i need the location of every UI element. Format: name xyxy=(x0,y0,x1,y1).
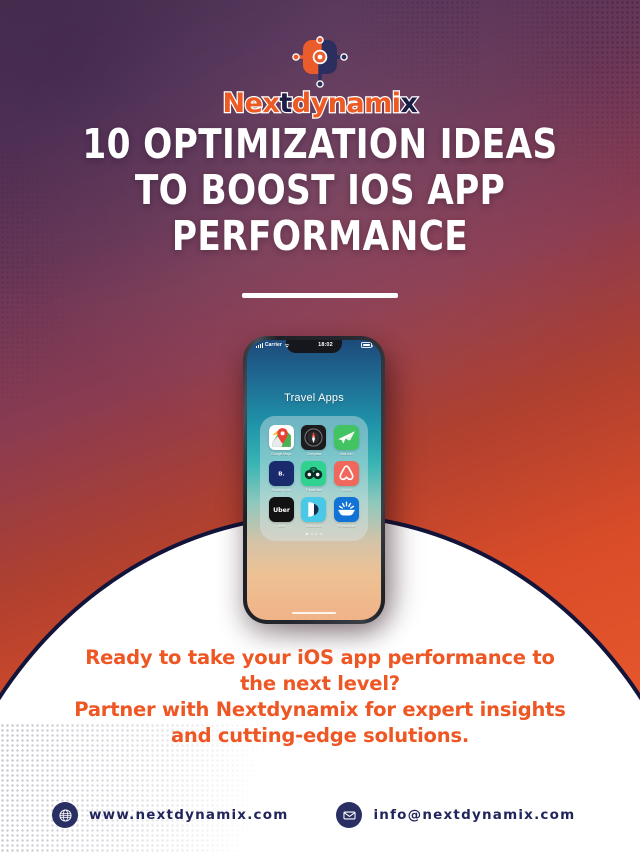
headline-line-1: 10 OPTIMIZATION IDEAS xyxy=(60,122,581,168)
compass-icon xyxy=(301,425,326,450)
brand-logo: Nextdynamix xyxy=(0,34,640,117)
battery-full-icon xyxy=(361,342,372,348)
app-tile-uber[interactable]: Uber Uber xyxy=(268,497,295,528)
cta-line-4: and cutting-edge solutions. xyxy=(52,723,588,749)
app-label: Kiwi.com xyxy=(340,452,354,456)
hotels-icon xyxy=(301,497,326,522)
wifi-icon xyxy=(284,343,290,348)
tripadvisor-icon xyxy=(301,461,326,486)
page-dot xyxy=(315,533,317,535)
carrier-label: Carrier xyxy=(265,342,282,348)
nextdynamix-cross-logo-icon xyxy=(286,34,354,88)
page-dot xyxy=(306,533,308,535)
app-tile-kiwi[interactable]: Kiwi.com xyxy=(333,425,360,456)
app-label: Compass xyxy=(307,452,321,456)
signal-bars-icon xyxy=(256,343,263,348)
svg-text:Uber: Uber xyxy=(273,507,291,514)
home-indicator[interactable] xyxy=(292,612,336,615)
app-tile-compass[interactable]: Compass xyxy=(301,425,328,456)
svg-text:B.: B. xyxy=(278,472,284,478)
headline-line-3: PERFORMANCE xyxy=(60,214,581,260)
footer-website-label: www.nextdynamix.com xyxy=(89,807,288,823)
folder-title: Travel Apps xyxy=(247,392,381,404)
folder-page-dots[interactable] xyxy=(268,533,360,535)
app-label: Hotels.com xyxy=(306,524,323,528)
headline-divider xyxy=(242,293,398,298)
app-label: Google Maps xyxy=(271,452,291,456)
booking-icon: B. xyxy=(269,461,294,486)
phone-screen: Carrier 18:02 Travel Apps xyxy=(247,340,381,620)
wordmark-part-1: Nex xyxy=(223,88,280,119)
phone-clock: 18:02 xyxy=(318,342,333,348)
cta-line-3: Partner with Nextdynamix for expert insi… xyxy=(52,697,588,723)
app-tile-hotels[interactable]: Hotels.com xyxy=(301,497,328,528)
footer-website[interactable]: www.nextdynamix.com xyxy=(52,802,288,828)
cta-line-1: Ready to take your iOS app performance t… xyxy=(52,645,588,671)
poster-canvas: Nextdynamix 10 OPTIMIZATION IDEAS TO BOO… xyxy=(0,0,640,853)
app-tile-google-maps[interactable]: Google Maps xyxy=(268,425,295,456)
app-tile-tripadvisor[interactable]: Tripadvisor xyxy=(301,461,328,492)
globe-icon xyxy=(52,802,78,828)
cta-line-2: the next level? xyxy=(52,671,588,697)
skyscanner-icon xyxy=(334,497,359,522)
app-grid: Google Maps Compass xyxy=(268,425,360,528)
footer-email[interactable]: info@nextdynamix.com xyxy=(336,802,575,828)
google-maps-icon xyxy=(269,425,294,450)
headline: 10 OPTIMIZATION IDEAS TO BOOST IOS APP P… xyxy=(60,122,581,260)
wordmark-part-2: t xyxy=(279,88,291,119)
app-label: Booking.com xyxy=(271,488,291,492)
footer-bar: www.nextdynamix.com info@nextdynamix.com xyxy=(0,777,640,853)
envelope-icon xyxy=(336,802,362,828)
app-folder[interactable]: Google Maps Compass xyxy=(260,416,368,541)
headline-line-2: TO BOOST IOS APP xyxy=(60,168,581,214)
wordmark-part-3: dynami xyxy=(292,88,401,119)
phone-mockup: Carrier 18:02 Travel Apps xyxy=(243,336,385,624)
footer-email-label: info@nextdynamix.com xyxy=(373,807,575,823)
uber-icon: Uber xyxy=(269,497,294,522)
airbnb-icon xyxy=(334,461,359,486)
wordmark-part-4: x xyxy=(401,88,418,119)
app-tile-booking[interactable]: B. Booking.com xyxy=(268,461,295,492)
app-label: Airbnb xyxy=(342,488,352,492)
brand-wordmark: Nextdynamix xyxy=(223,90,418,117)
app-label: Skyscanner xyxy=(338,524,356,528)
app-tile-airbnb[interactable]: Airbnb xyxy=(333,461,360,492)
page-dot xyxy=(320,533,322,535)
app-tile-skyscanner[interactable]: Skyscanner xyxy=(333,497,360,528)
page-dot xyxy=(311,533,313,535)
app-label: Uber xyxy=(278,524,285,528)
phone-status-bar: Carrier 18:02 xyxy=(247,342,381,348)
cta-text: Ready to take your iOS app performance t… xyxy=(52,645,588,749)
app-label: Tripadvisor xyxy=(306,488,323,492)
kiwi-icon xyxy=(334,425,359,450)
